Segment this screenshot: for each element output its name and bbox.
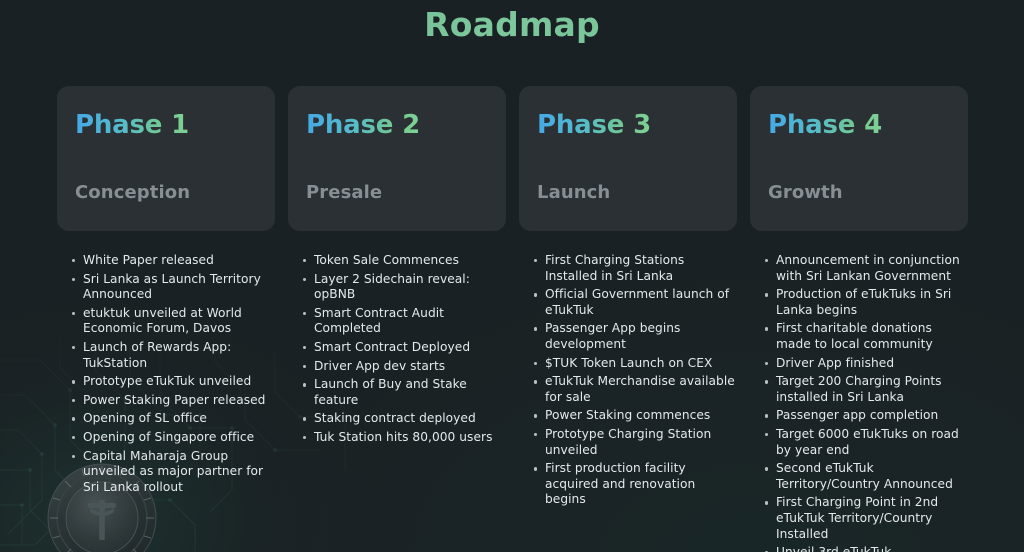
phase-card-4[interactable]: Phase 4 Growth xyxy=(750,86,968,231)
phase-column-2: Phase 2 Presale Token Sale Commences Lay… xyxy=(288,86,506,552)
list-item: Power Staking Paper released xyxy=(72,393,275,409)
phase-title-3: Phase 3 xyxy=(537,112,651,139)
list-item: Staking contract deployed xyxy=(303,411,506,427)
list-item: Target 6000 eTukTuks on road by year end xyxy=(765,427,968,458)
list-item: Layer 2 Sidechain reveal: opBNB xyxy=(303,272,506,303)
list-item: Smart Contract Audit Completed xyxy=(303,306,506,337)
phase-card-2[interactable]: Phase 2 Presale xyxy=(288,86,506,231)
list-item: Announcement in conjunction with Sri Lan… xyxy=(765,253,968,284)
list-item: Target 200 Charging Points installed in … xyxy=(765,374,968,405)
phase-title-4: Phase 4 xyxy=(768,112,882,139)
phase-card-3[interactable]: Phase 3 Launch xyxy=(519,86,737,231)
phase-item-list-3: First Charging Stations Installed in Sri… xyxy=(519,253,737,511)
list-item: First charitable donations made to local… xyxy=(765,321,968,352)
list-item: Sri Lanka as Launch Territory Announced xyxy=(72,272,275,303)
phase-item-list-1: White Paper released Sri Lanka as Launch… xyxy=(57,253,275,498)
list-item: Passenger App begins development xyxy=(534,321,737,352)
list-item: Launch of Buy and Stake feature xyxy=(303,377,506,408)
phase-subtitle-1: Conception xyxy=(75,182,190,203)
list-item: eTukTuk Merchandise available for sale xyxy=(534,374,737,405)
list-item: Unveil 3rd eTukTuk Country/Territory xyxy=(765,545,968,552)
page-title: Roadmap xyxy=(0,5,1024,44)
list-item: Launch of Rewards App: TukStation xyxy=(72,340,275,371)
phase-column-1: Phase 1 Conception White Paper released … xyxy=(57,86,275,552)
phase-subtitle-3: Launch xyxy=(537,182,610,203)
phase-column-3: Phase 3 Launch First Charging Stations I… xyxy=(519,86,737,552)
list-item: White Paper released xyxy=(72,253,275,269)
list-item: Opening of SL office xyxy=(72,411,275,427)
list-item: Smart Contract Deployed xyxy=(303,340,506,356)
list-item: $TUK Token Launch on CEX xyxy=(534,356,737,372)
phase-subtitle-2: Presale xyxy=(306,182,382,203)
list-item: First production facility acquired and r… xyxy=(534,461,737,508)
list-item: Driver App finished xyxy=(765,356,968,372)
list-item: First Charging Point in 2nd eTukTuk Terr… xyxy=(765,495,968,542)
list-item: Second eTukTuk Territory/Country Announc… xyxy=(765,461,968,492)
phase-card-1[interactable]: Phase 1 Conception xyxy=(57,86,275,231)
list-item: Production of eTukTuks in Sri Lanka begi… xyxy=(765,287,968,318)
list-item: Opening of Singapore office xyxy=(72,430,275,446)
list-item: First Charging Stations Installed in Sri… xyxy=(534,253,737,284)
list-item: Official Government launch of eTukTuk xyxy=(534,287,737,318)
phase-title-1: Phase 1 xyxy=(75,112,189,139)
list-item: Capital Maharaja Group unveiled as major… xyxy=(72,449,275,496)
phase-item-list-4: Announcement in conjunction with Sri Lan… xyxy=(750,253,968,552)
list-item: Power Staking commences xyxy=(534,408,737,424)
list-item: etuktuk unveiled at World Economic Forum… xyxy=(72,306,275,337)
list-item: Prototype eTukTuk unveiled xyxy=(72,374,275,390)
phase-subtitle-4: Growth xyxy=(768,182,843,203)
list-item: Prototype Charging Station unveiled xyxy=(534,427,737,458)
phase-title-2: Phase 2 xyxy=(306,112,420,139)
roadmap-phase-columns: Phase 1 Conception White Paper released … xyxy=(57,86,968,552)
phase-column-4: Phase 4 Growth Announcement in conjuncti… xyxy=(750,86,968,552)
list-item: Driver App dev starts xyxy=(303,359,506,375)
list-item: Passenger app completion xyxy=(765,408,968,424)
phase-item-list-2: Token Sale Commences Layer 2 Sidechain r… xyxy=(288,253,506,449)
list-item: Token Sale Commences xyxy=(303,253,506,269)
list-item: Tuk Station hits 80,000 users xyxy=(303,430,506,446)
